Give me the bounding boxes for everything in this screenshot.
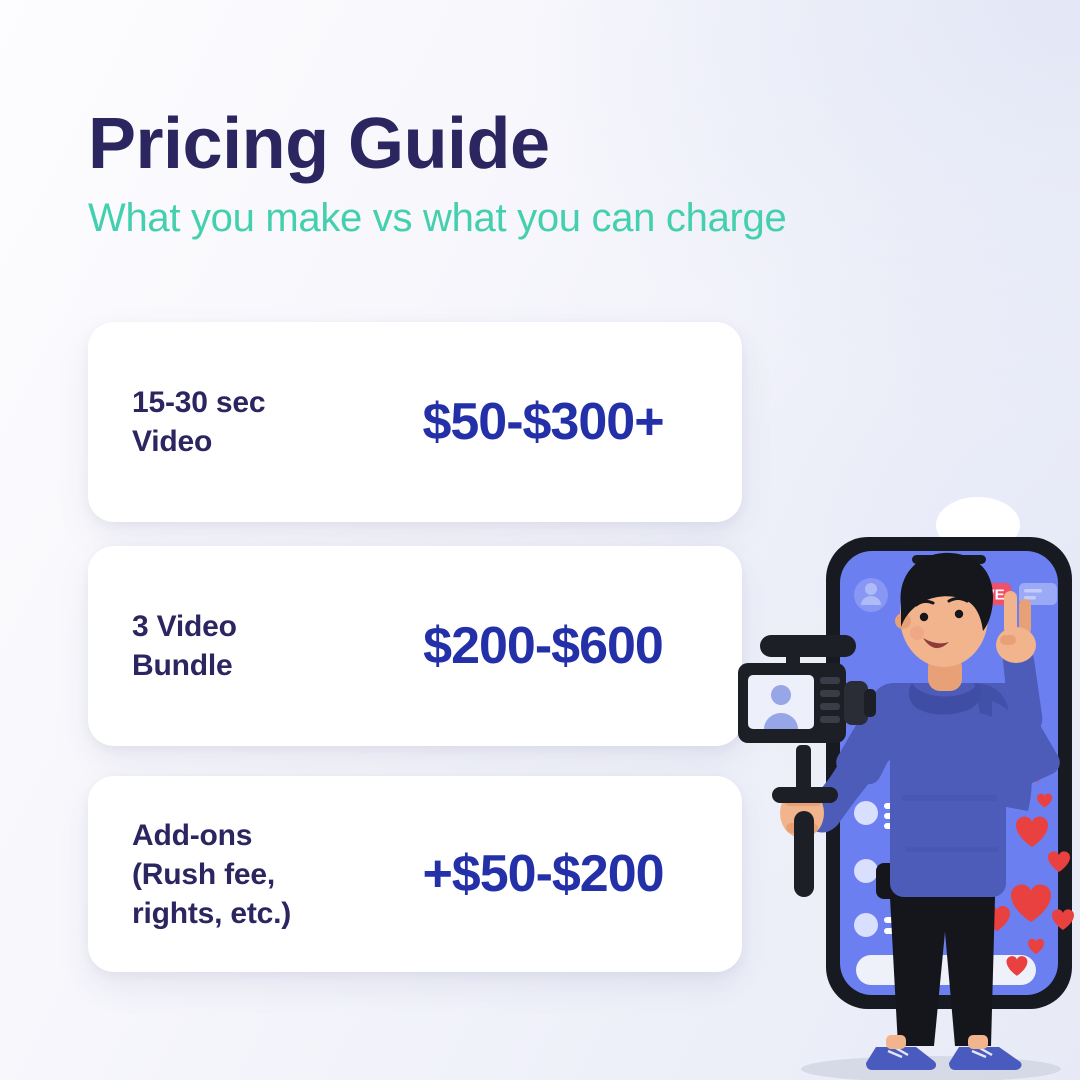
pants-icon bbox=[882, 887, 995, 1046]
pricing-card-label: 3 Video Bundle bbox=[132, 607, 382, 685]
pricing-guide-poster: Pricing Guide What you make vs what you … bbox=[0, 0, 1080, 1080]
header: Pricing Guide What you make vs what you … bbox=[88, 108, 988, 238]
pricing-card-list: 15-30 sec Video $50-$300+ 3 Video Bundle… bbox=[88, 322, 742, 972]
pricing-card-price: +$50-$200 bbox=[382, 847, 704, 902]
live-streaming-illustration: LIVE bbox=[716, 495, 1080, 1080]
pricing-card-label: Add-ons (Rush fee, rights, etc.) bbox=[132, 816, 382, 933]
pricing-card-price: $200-$600 bbox=[382, 619, 704, 674]
pricing-card[interactable]: 15-30 sec Video $50-$300+ bbox=[88, 322, 742, 522]
pricing-card-label: 15-30 sec Video bbox=[132, 383, 382, 461]
comment-input-bar[interactable] bbox=[856, 955, 1036, 985]
avatar-icon bbox=[854, 578, 888, 612]
pricing-card-price: $50-$300+ bbox=[382, 395, 704, 450]
page-subtitle: What you make vs what you can charge bbox=[88, 198, 988, 238]
page-title: Pricing Guide bbox=[88, 108, 988, 180]
pricing-card[interactable]: Add-ons (Rush fee, rights, etc.) +$50-$2… bbox=[88, 776, 742, 972]
pricing-card[interactable]: 3 Video Bundle $200-$600 bbox=[88, 546, 742, 746]
